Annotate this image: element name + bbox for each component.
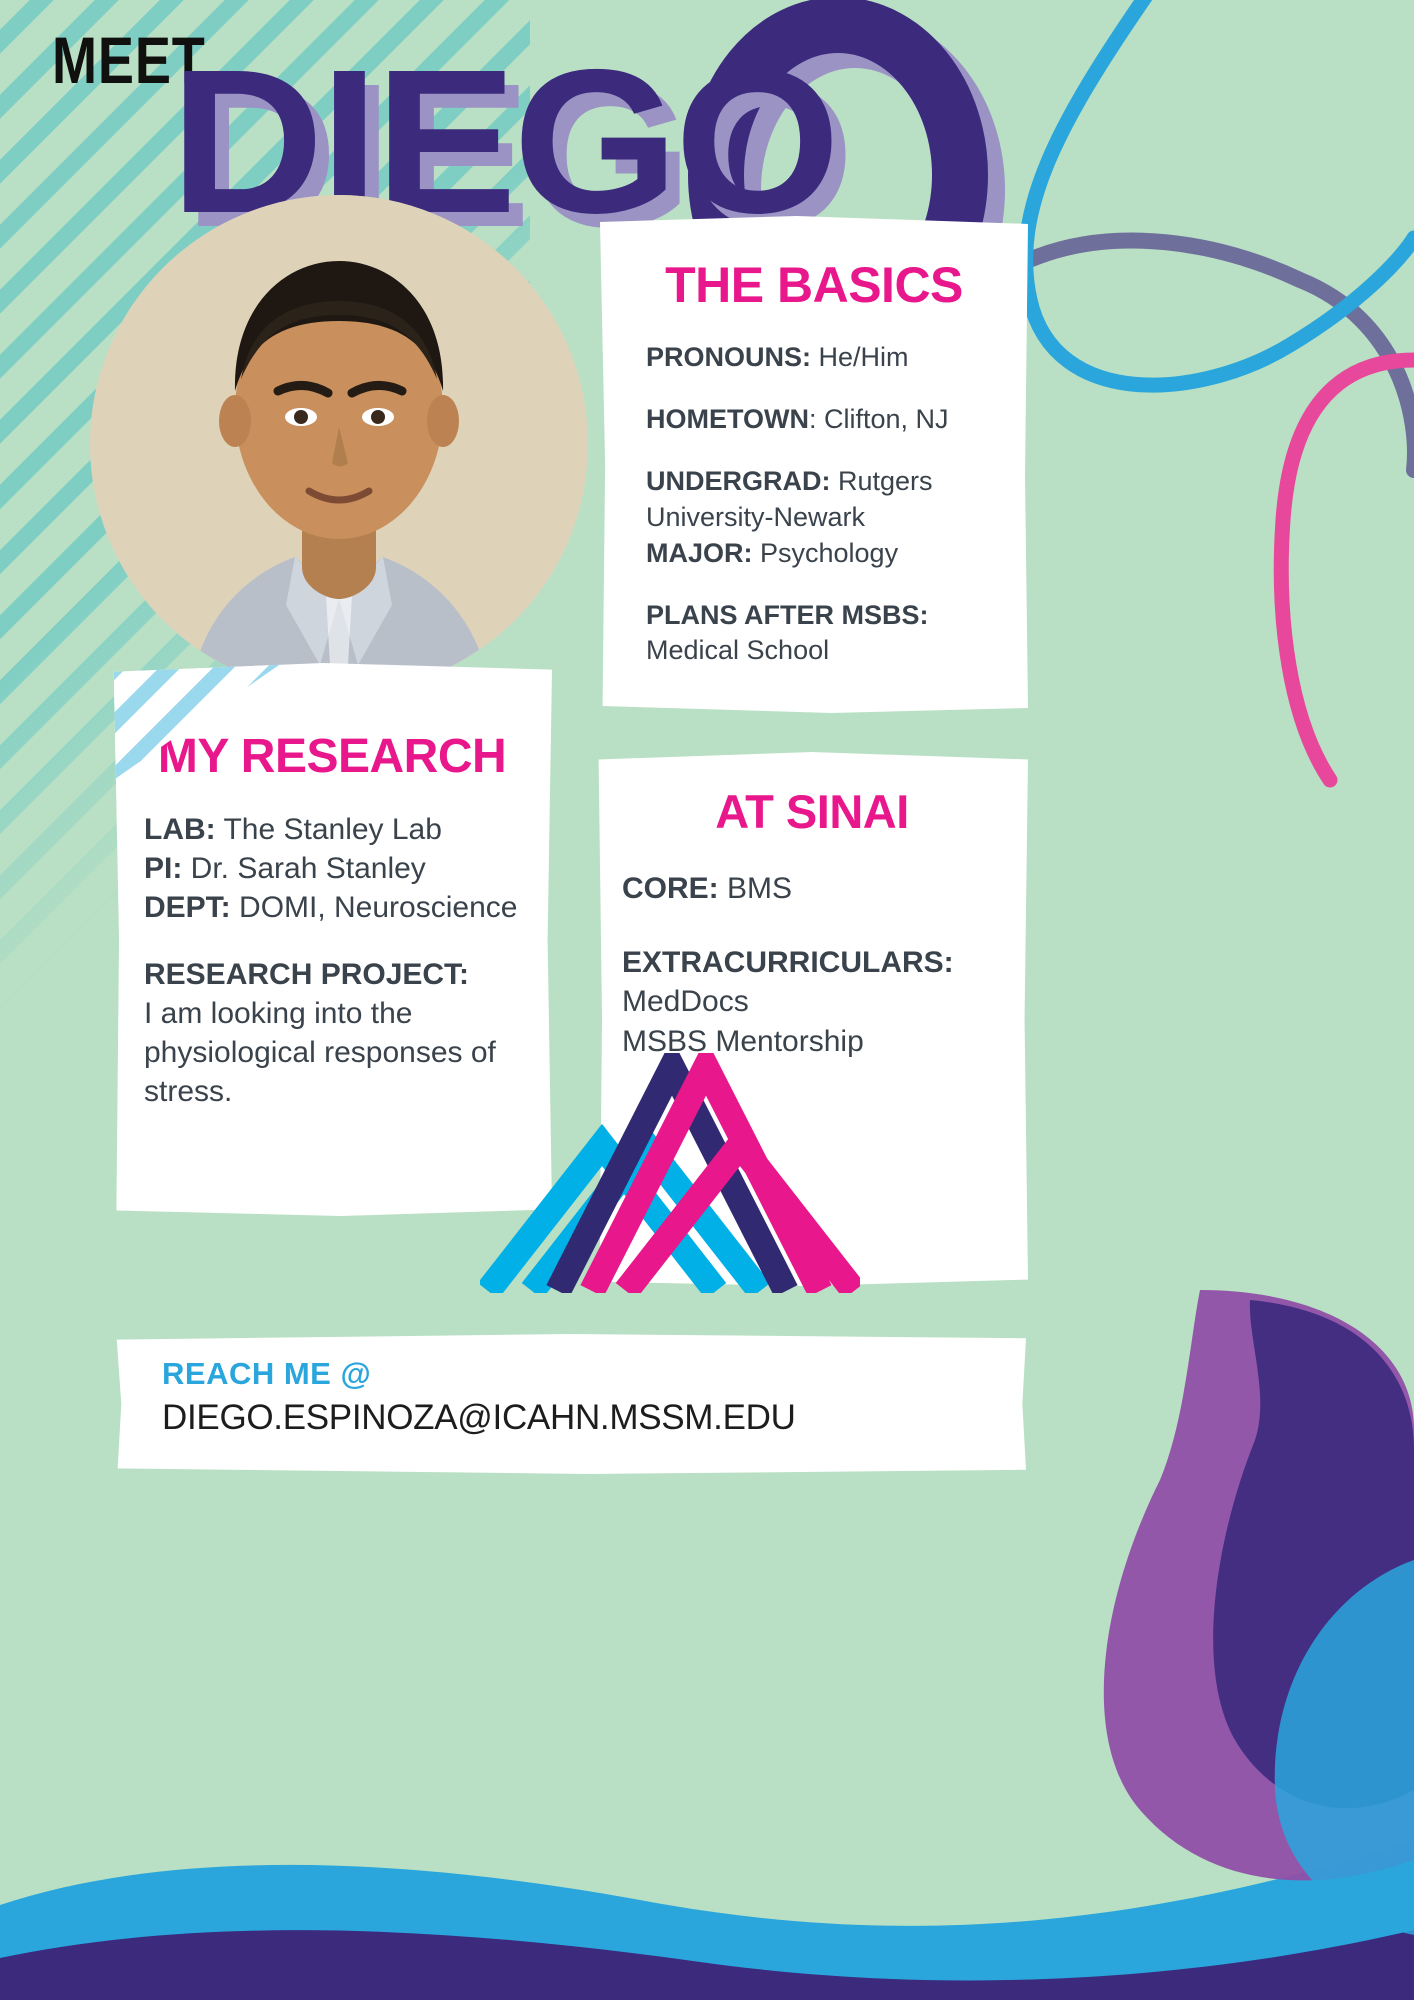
poster-canvas: MEET DIEGO DIEGO [0, 0, 1414, 2000]
card-contact: REACH ME @ DIEGO.ESPINOZA@ICAHN.MSSM.EDU [114, 1334, 1026, 1474]
cyan-blob-decor [1275, 1560, 1414, 1935]
sinai-value-core: BMS [719, 872, 792, 905]
contact-email[interactable]: DIEGO.ESPINOZA@ICAHN.MSSM.EDU [114, 1392, 1026, 1438]
sinai-value-extracurricular-1: MedDocs [622, 985, 749, 1018]
research-value-dept: DOMI, Neuroscience [231, 891, 518, 924]
avatar [90, 195, 588, 693]
sinai-row-extracurriculars: EXTRACURRICULARS: MedDocs MSBS Mentorshi… [622, 943, 1008, 1062]
research-row-lab: LAB: The Stanley Lab [144, 810, 532, 849]
basics-value-major: Psychology [753, 538, 899, 568]
basics-row-hometown: HOMETOWN: Clifton, NJ [646, 402, 1006, 438]
sinai-body: CORE: BMS EXTRACURRICULARS: MedDocs MSBS… [596, 869, 1028, 1061]
research-row-dept: DEPT: DOMI, Neuroscience [144, 888, 532, 927]
research-row-project: RESEARCH PROJECT: I am looking into the … [144, 955, 532, 1111]
research-value-pi: Dr. Sarah Stanley [182, 852, 425, 885]
basics-row-plans: PLANS AFTER MSBS: Medical School [646, 598, 1006, 670]
sinai-row-core: CORE: BMS [622, 869, 1008, 909]
wave-purple [0, 1930, 1414, 2000]
sinai-label-core: CORE: [622, 872, 719, 905]
sinai-label-extracurriculars: EXTRACURRICULARS: [622, 946, 954, 979]
basics-title: THE BASICS [600, 256, 1028, 314]
basics-row-pronouns: PRONOUNS: He/Him [646, 340, 1006, 376]
basics-label-major: MAJOR: [646, 538, 753, 568]
basics-row-undergrad: UNDERGRAD: Rutgers University-Newark [646, 464, 1006, 536]
research-title: MY RESEARCH [112, 729, 552, 784]
reach-me-label: REACH ME @ [114, 1334, 1026, 1392]
sinai-title: AT SINAI [596, 784, 1028, 839]
research-value-project: I am looking into the physiological resp… [144, 997, 496, 1108]
basics-row-major: MAJOR: Psychology [646, 536, 1006, 572]
purple-blob-decor [1213, 1300, 1414, 1808]
basics-label-plans: PLANS AFTER MSBS: [646, 600, 929, 630]
research-label-pi: PI: [144, 852, 182, 885]
pink-curve-decor [1281, 360, 1414, 780]
basics-value-hometown: : Clifton, NJ [809, 404, 949, 434]
mount-sinai-logo [480, 1053, 860, 1293]
card-the-basics: THE BASICS PRONOUNS: He/Him HOMETOWN: Cl… [600, 216, 1028, 713]
cyan-curve-decor [1026, 0, 1414, 385]
research-value-lab: The Stanley Lab [216, 813, 442, 846]
violet-blob-decor [1104, 1290, 1414, 1880]
basics-body: PRONOUNS: He/Him HOMETOWN: Clifton, NJ U… [600, 340, 1028, 669]
wave-cyan [0, 1840, 1414, 2000]
research-label-dept: DEPT: [144, 891, 231, 924]
basics-value-pronouns: He/Him [811, 342, 909, 372]
headshot-illustration [90, 195, 588, 693]
research-label-project: RESEARCH PROJECT: [144, 958, 469, 991]
basics-value-plans: Medical School [646, 635, 829, 665]
research-label-lab: LAB: [144, 813, 216, 846]
basics-label-pronouns: PRONOUNS: [646, 342, 811, 372]
research-row-pi: PI: Dr. Sarah Stanley [144, 849, 532, 888]
basics-label-undergrad: UNDERGRAD: [646, 466, 831, 496]
basics-label-hometown: HOMETOWN [646, 404, 809, 434]
